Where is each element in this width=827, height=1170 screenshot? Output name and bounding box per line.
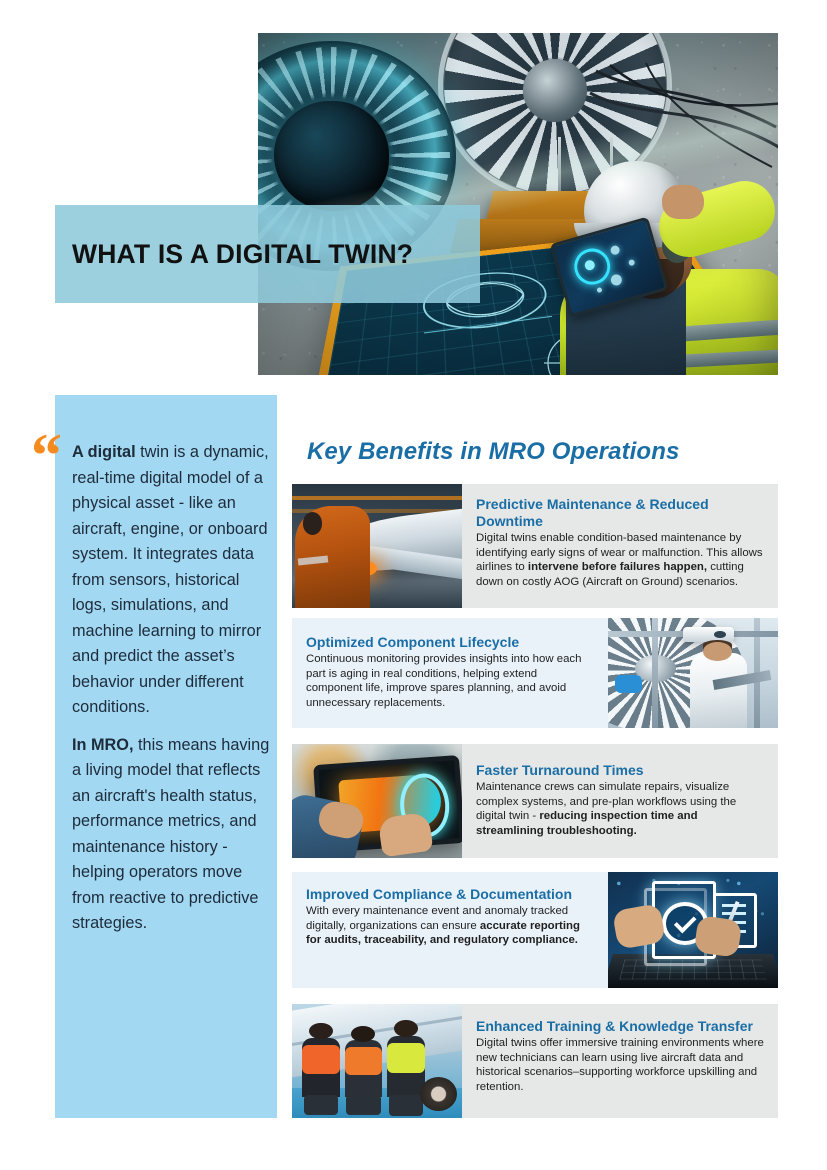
benefit-image-3 [292,744,462,858]
benefit-body-1: Digital twins enable condition-based mai… [476,531,764,589]
quote-paragraph-2: In MRO, this means having a living model… [72,733,272,937]
hero-illustration [258,33,778,375]
quote-text-block: A digital twin is a dynamic, real-time d… [72,440,272,949]
benefit-text-3: Faster Turnaround Times Maintenance crew… [462,744,778,858]
benefit-card-1: Predictive Maintenance & Reduced Downtim… [292,484,778,608]
benefit-image-2 [608,618,778,728]
benefit-title-3: Faster Turnaround Times [476,762,764,779]
benefit-card-4: Improved Compliance & Documentation With… [292,872,778,988]
benefit-text-1: Predictive Maintenance & Reduced Downtim… [462,484,778,608]
quote-mark-icon: “ [31,425,60,487]
benefit-body-3: Maintenance crews can simulate repairs, … [476,780,764,838]
hero-image [258,33,778,375]
benefit-body-4: With every maintenance event and anomaly… [306,904,594,948]
benefit-body-2: Continuous monitoring provides insights … [306,652,594,710]
benefit-body-5: Digital twins offer immersive training e… [476,1036,764,1094]
title-banner: WHAT IS A DIGITAL TWIN? [55,205,480,303]
benefit-card-5: Enhanced Training & Knowledge Transfer D… [292,1004,778,1118]
benefit-body-2-part1: Continuous monitoring provides insights … [306,653,581,709]
benefit-card-2: Optimized Component Lifecycle Continuous… [292,618,778,728]
page-title: WHAT IS A DIGITAL TWIN? [72,239,413,270]
benefit-image-4 [608,872,778,988]
benefit-text-5: Enhanced Training & Knowledge Transfer D… [462,1004,778,1118]
benefit-title-5: Enhanced Training & Knowledge Transfer [476,1018,764,1035]
quote-rest-1: twin is a dynamic, real-time digital mod… [72,443,269,716]
benefit-text-2: Optimized Component Lifecycle Continuous… [292,618,608,728]
benefits-heading: Key Benefits in MRO Operations [307,438,679,466]
benefit-title-4: Improved Compliance & Documentation [306,886,594,903]
benefit-text-4: Improved Compliance & Documentation With… [292,872,608,988]
benefit-card-3: Faster Turnaround Times Maintenance crew… [292,744,778,858]
quote-lead-1: A digital [72,443,136,461]
benefit-title-2: Optimized Component Lifecycle [306,634,594,651]
benefit-image-1 [292,484,462,608]
benefit-title-1: Predictive Maintenance & Reduced Downtim… [476,496,764,530]
hero-vignette [258,33,778,375]
benefit-body-1-bold: intervene before failures happen, [528,561,707,573]
quote-paragraph-1: A digital twin is a dynamic, real-time d… [72,440,272,721]
benefit-image-5 [292,1004,462,1118]
benefit-body-5-part1: Digital twins offer immersive training e… [476,1037,764,1093]
quote-lead-2: In MRO, [72,736,134,754]
quote-rest-2: this means having a living model that re… [72,736,269,933]
